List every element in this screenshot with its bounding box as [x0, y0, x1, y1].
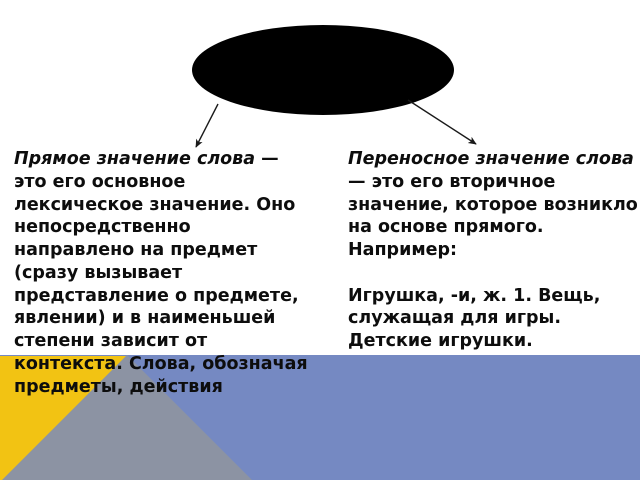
right-branch-definition: — это его вторичное значение, которое во…	[348, 172, 638, 260]
right-branch-example: Игрушка, -и, ж. 1. Вещь, служащая для иг…	[348, 285, 640, 353]
left-branch-definition: — это его основное лексическое значение.…	[14, 149, 308, 397]
left-branch-column: Прямое значение слова — это его основное…	[14, 148, 314, 398]
definition-columns: Прямое значение слова — это его основное…	[0, 0, 640, 480]
right-branch-term: Переносное значение слова	[348, 149, 634, 169]
right-branch-column: Переносное значение слова — это его втор…	[348, 148, 640, 353]
left-branch-term: Прямое значение слова	[14, 149, 255, 169]
slide-canvas: Слово Прямое значение слова — это его ос…	[0, 0, 640, 480]
